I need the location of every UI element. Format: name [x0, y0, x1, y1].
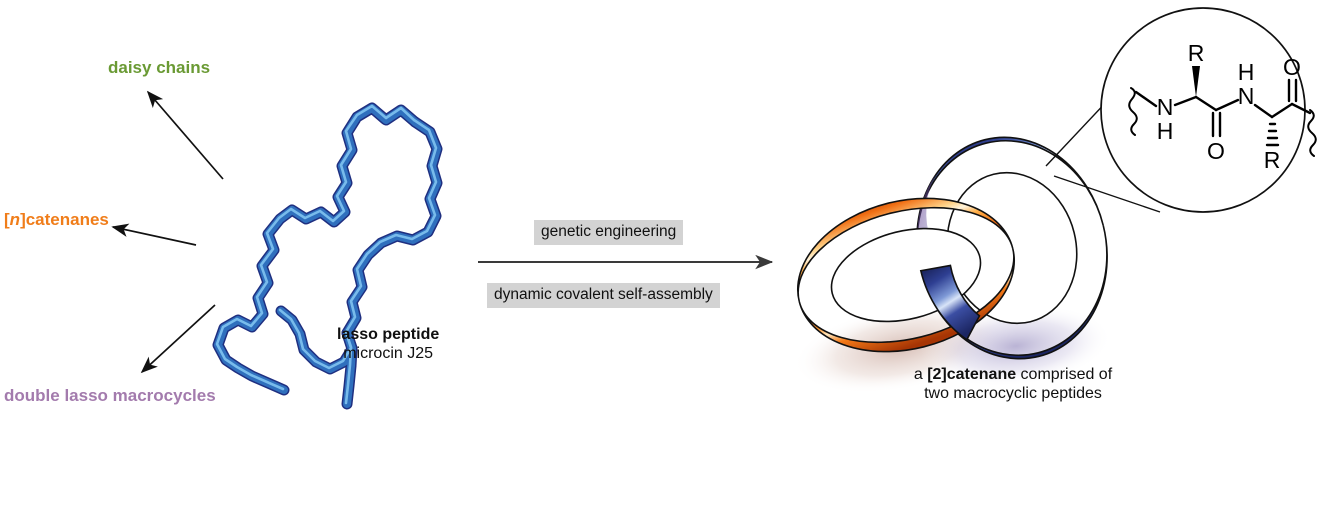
caption-lasso-peptide-title: lasso peptide [337, 326, 439, 345]
caption-lasso-peptide: lasso peptide microcin J25 [337, 326, 439, 364]
caption-catenane-rest: comprised of [1016, 366, 1112, 383]
label-n-catenanes: [n]catenanes [4, 210, 109, 230]
arrow-to-daisy-chains [148, 92, 223, 179]
caption-catenane-bold: [2]catenane [927, 366, 1016, 383]
n-catenanes-italic-n: n [10, 210, 20, 229]
pathway-arrows [113, 92, 223, 372]
caption-catenane-lead: a [914, 366, 927, 383]
atom-n1: N [1157, 94, 1174, 120]
n-catenanes-suffix: ]catenanes [20, 210, 109, 229]
arrow-label-dynamic-covalent-self-assembly: dynamic covalent self-assembly [487, 283, 720, 308]
label-daisy-chains: daisy chains [108, 58, 210, 78]
figure-canvas: N H R O H N R O daisy chains [n]catenane… [0, 0, 1337, 505]
atom-h2: H [1238, 59, 1255, 85]
caption-catenane: a [2]catenane comprised of two macrocycl… [868, 366, 1158, 404]
atom-r1: R [1188, 40, 1205, 66]
caption-lasso-peptide-subtitle: microcin J25 [337, 345, 439, 364]
arrow-label-genetic-engineering: genetic engineering [534, 220, 683, 245]
arrow-to-double-lasso [142, 305, 215, 372]
arrow-to-n-catenanes [113, 227, 196, 245]
atom-n2: N [1238, 83, 1255, 109]
label-double-lasso-macrocycles: double lasso macrocycles [4, 386, 216, 406]
atom-h1: H [1157, 118, 1174, 144]
squiggle-right-bond [1308, 110, 1316, 156]
atom-o2: O [1283, 54, 1301, 80]
atom-o1: O [1207, 138, 1225, 164]
caption-catenane-line2: two macrocyclic peptides [924, 385, 1102, 402]
atom-r2: R [1264, 147, 1281, 173]
